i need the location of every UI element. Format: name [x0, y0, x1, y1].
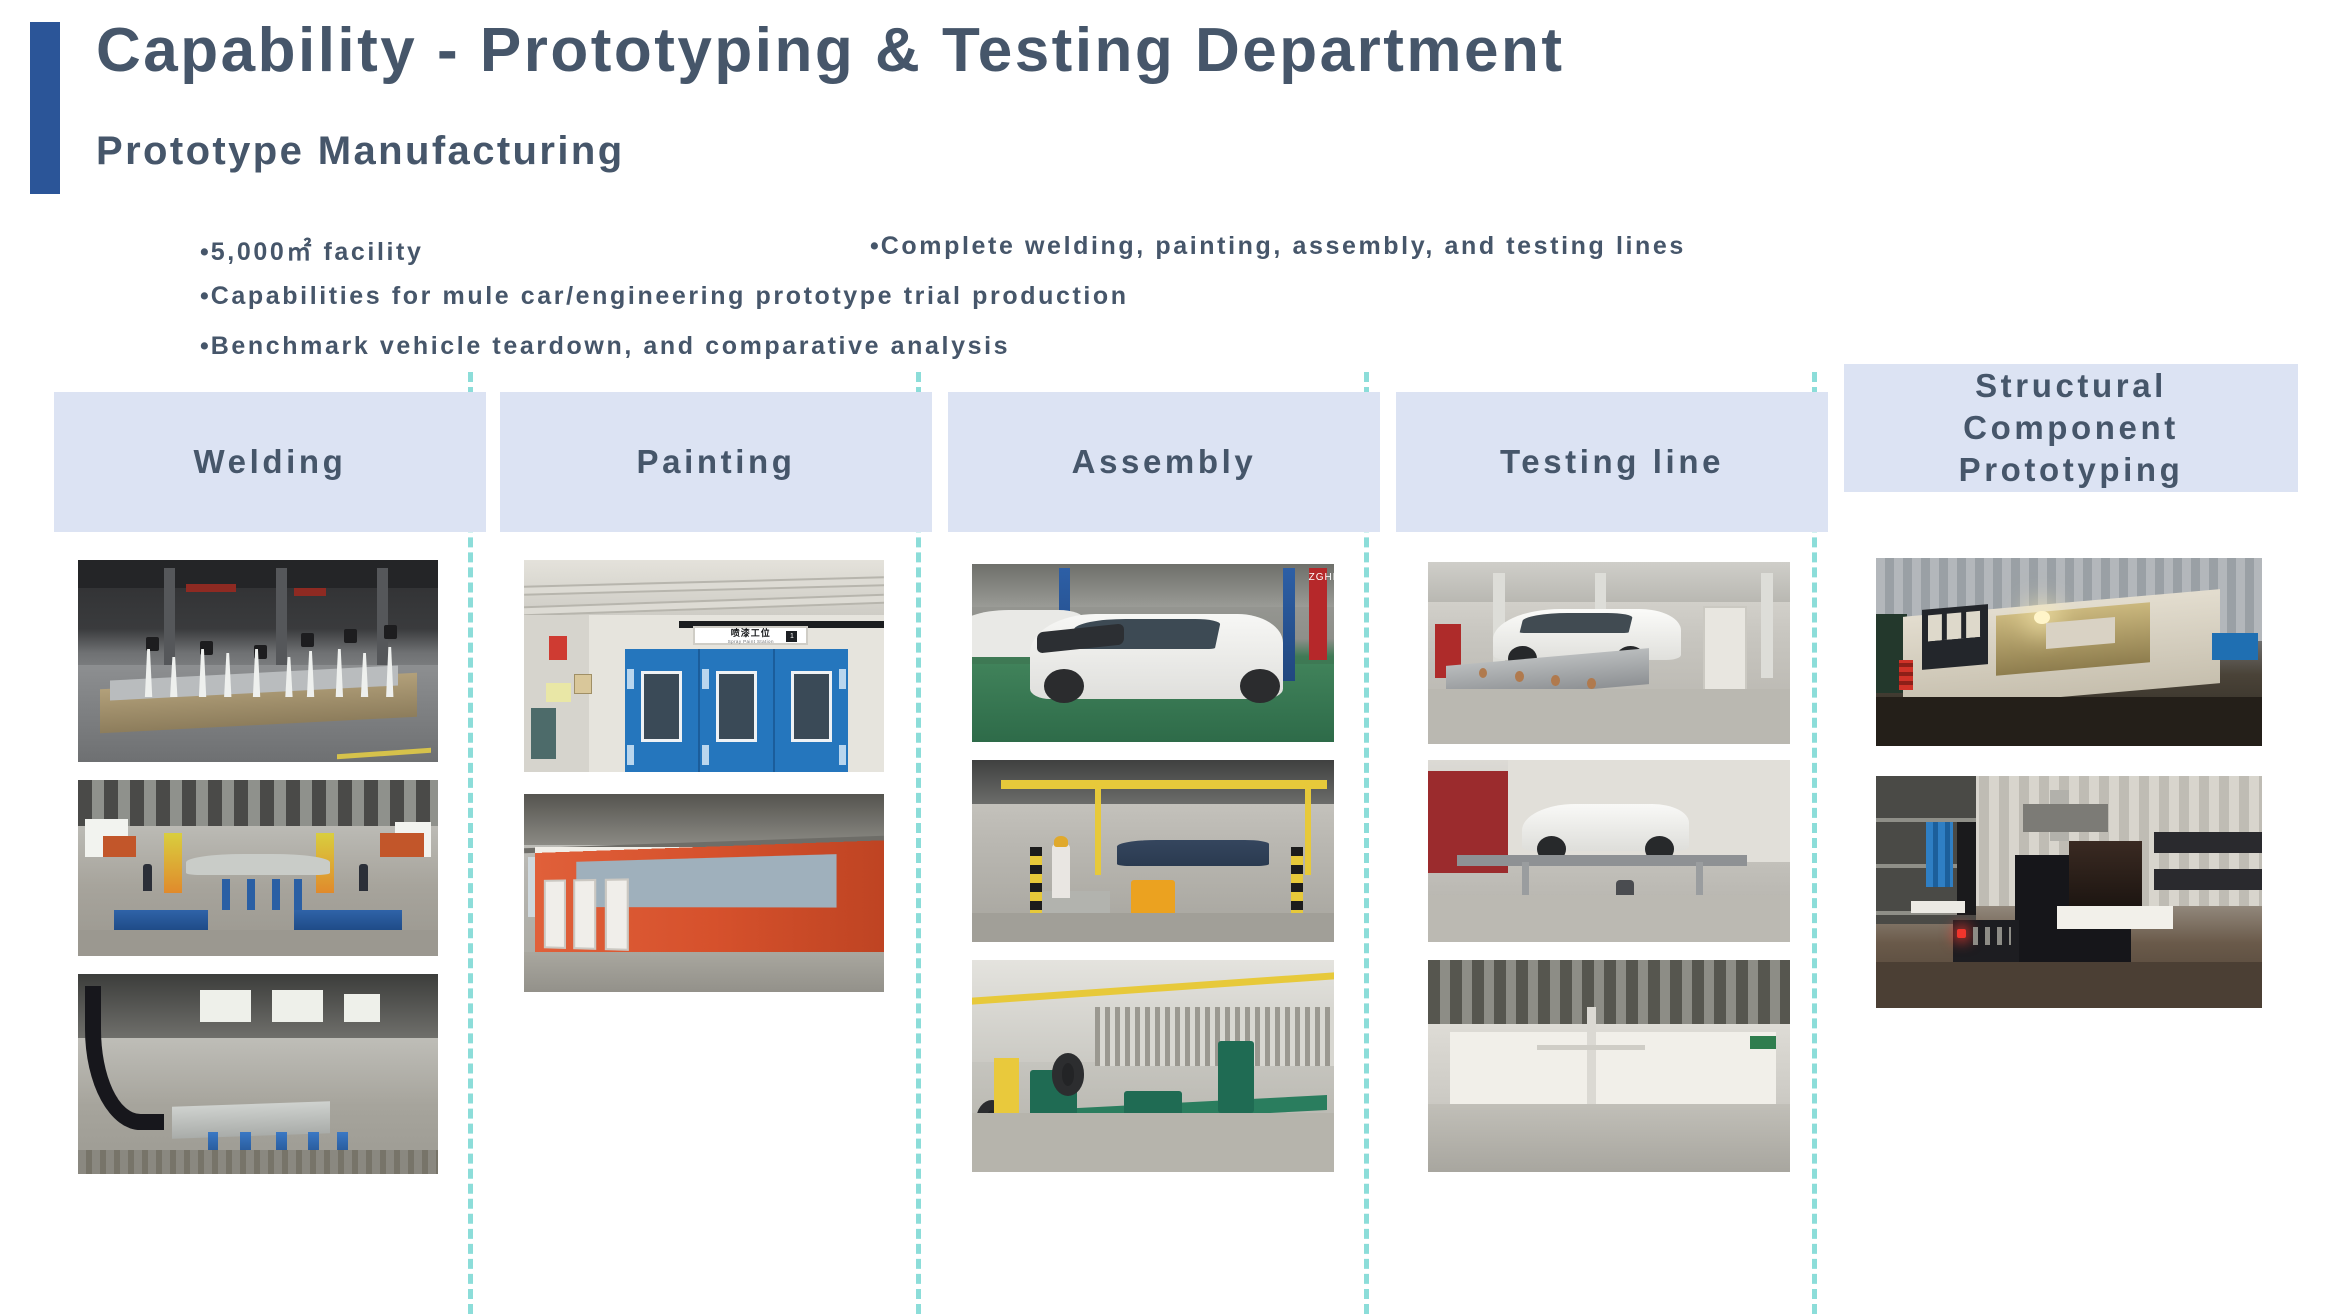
photo-robotic-weld-cell-body-jig: [78, 974, 438, 1174]
page-title: Capability - Prototyping & Testing Depar…: [96, 18, 1565, 83]
photo-spray-paint-booth-blue-doors: 喷漆工位 Spray Paint Station 1: [524, 560, 884, 772]
column-header-label: Painting: [637, 441, 796, 483]
photo-white-ev-prototype-on-lift: ZGHFWP: [972, 564, 1334, 742]
column-assembly[interactable]: Assembly ZGHFWP: [948, 372, 1380, 1314]
photo-welding-fixtures-on-transfer-table: [78, 560, 438, 762]
column-header-welding: Welding: [54, 392, 486, 532]
column-header-painting: Painting: [500, 392, 932, 532]
title-accent-bar: [30, 22, 60, 194]
photo-testing-hall-with-vehicle-lift: [1428, 960, 1790, 1172]
photo-vehicle-on-test-bench: [1428, 562, 1790, 744]
column-header-testing-line: Testing line: [1396, 392, 1828, 532]
column-header-label: Testing line: [1500, 441, 1724, 483]
column-structural-component-prototyping[interactable]: Structural Component Prototyping: [1844, 372, 2298, 1314]
column-header-label: Structural Component Prototyping: [1959, 365, 2184, 492]
capability-bullet-list: 5,000㎡ facility Complete welding, painti…: [200, 232, 2200, 382]
photo-welding-line-blue-orange-fixtures: [78, 780, 438, 956]
page-subtitle: Prototype Manufacturing: [96, 130, 625, 172]
bullet-row-1: 5,000㎡ facility Complete welding, painti…: [200, 232, 2200, 282]
paint-station-number: 1: [786, 631, 797, 642]
paint-station-sign: 喷漆工位 Spray Paint Station 1: [693, 626, 808, 645]
column-header-label: Assembly: [1072, 441, 1257, 483]
column-testing-line[interactable]: Testing line: [1396, 372, 1828, 1314]
photo-tyre-mounting-balancing-station: [972, 960, 1334, 1172]
column-welding[interactable]: Welding: [54, 372, 486, 1314]
slide-root: Capability - Prototyping & Testing Depar…: [0, 0, 2338, 1314]
photo-cnc-lathe-machine: [1876, 558, 2262, 746]
bullet-mule-car-capabilities: Capabilities for mule car/engineering pr…: [200, 282, 1129, 311]
photo-suspension-rig-red-curtain: [1428, 760, 1790, 942]
column-header-structural-component-prototyping: Structural Component Prototyping: [1844, 364, 2298, 492]
bullet-complete-lines: Complete welding, painting, assembly, an…: [870, 232, 1686, 261]
photo-orange-paint-booth-warehouse: [524, 794, 884, 992]
column-header-assembly: Assembly: [948, 392, 1380, 532]
paint-station-sign-en: Spray Paint Station: [728, 639, 774, 644]
paint-station-sign-cn: 喷漆工位: [731, 626, 771, 639]
capability-columns: Welding: [0, 372, 2338, 1314]
assembly-bay-banner: ZGHFWP: [1309, 568, 1327, 661]
photo-edm-engraving-machine: [1876, 776, 2262, 1008]
photo-assembly-station-yellow-gantry: [972, 760, 1334, 942]
bullet-facility-area: 5,000㎡ facility: [200, 232, 423, 268]
bullet-benchmark-teardown: Benchmark vehicle teardown, and comparat…: [200, 332, 1010, 361]
column-painting[interactable]: Painting 喷漆工位 Spray Paint Stati: [500, 372, 932, 1314]
column-header-label: Welding: [194, 441, 347, 483]
bullet-row-2: Capabilities for mule car/engineering pr…: [200, 282, 2200, 332]
